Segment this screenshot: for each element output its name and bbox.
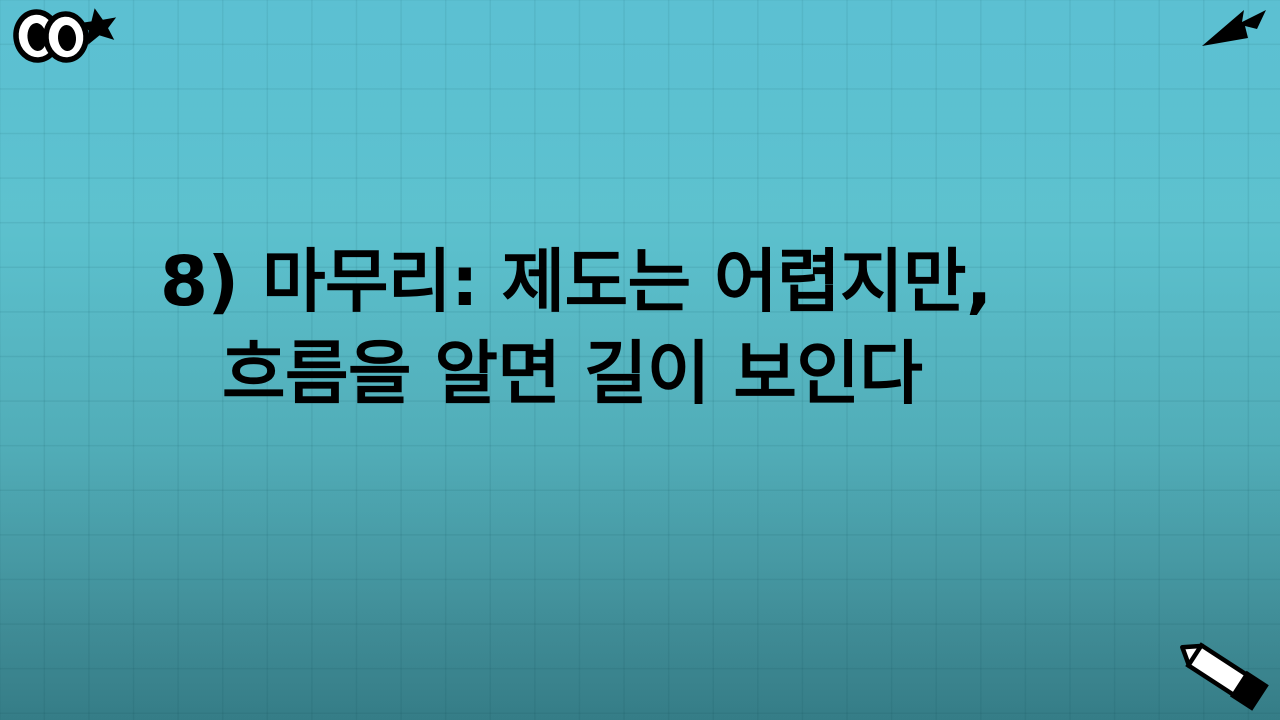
slide-canvas: 8) 마무리: 제도는 어렵지만, 흐름을 알면 길이 보인다 [0,0,1280,720]
googly-eyes-star-logo-icon [8,4,118,66]
slide-headline: 8) 마무리: 제도는 어렵지만, 흐름을 알면 길이 보인다 [0,236,1280,421]
headline-line-1: 8) 마무리: 제도는 어렵지만, [160,236,1130,328]
arrow-cursor-icon [1198,2,1270,54]
pencil-icon [1164,638,1274,716]
headline-line-2: 흐름을 알면 길이 보인다 [222,328,1130,420]
eye-right-icon [44,13,87,62]
